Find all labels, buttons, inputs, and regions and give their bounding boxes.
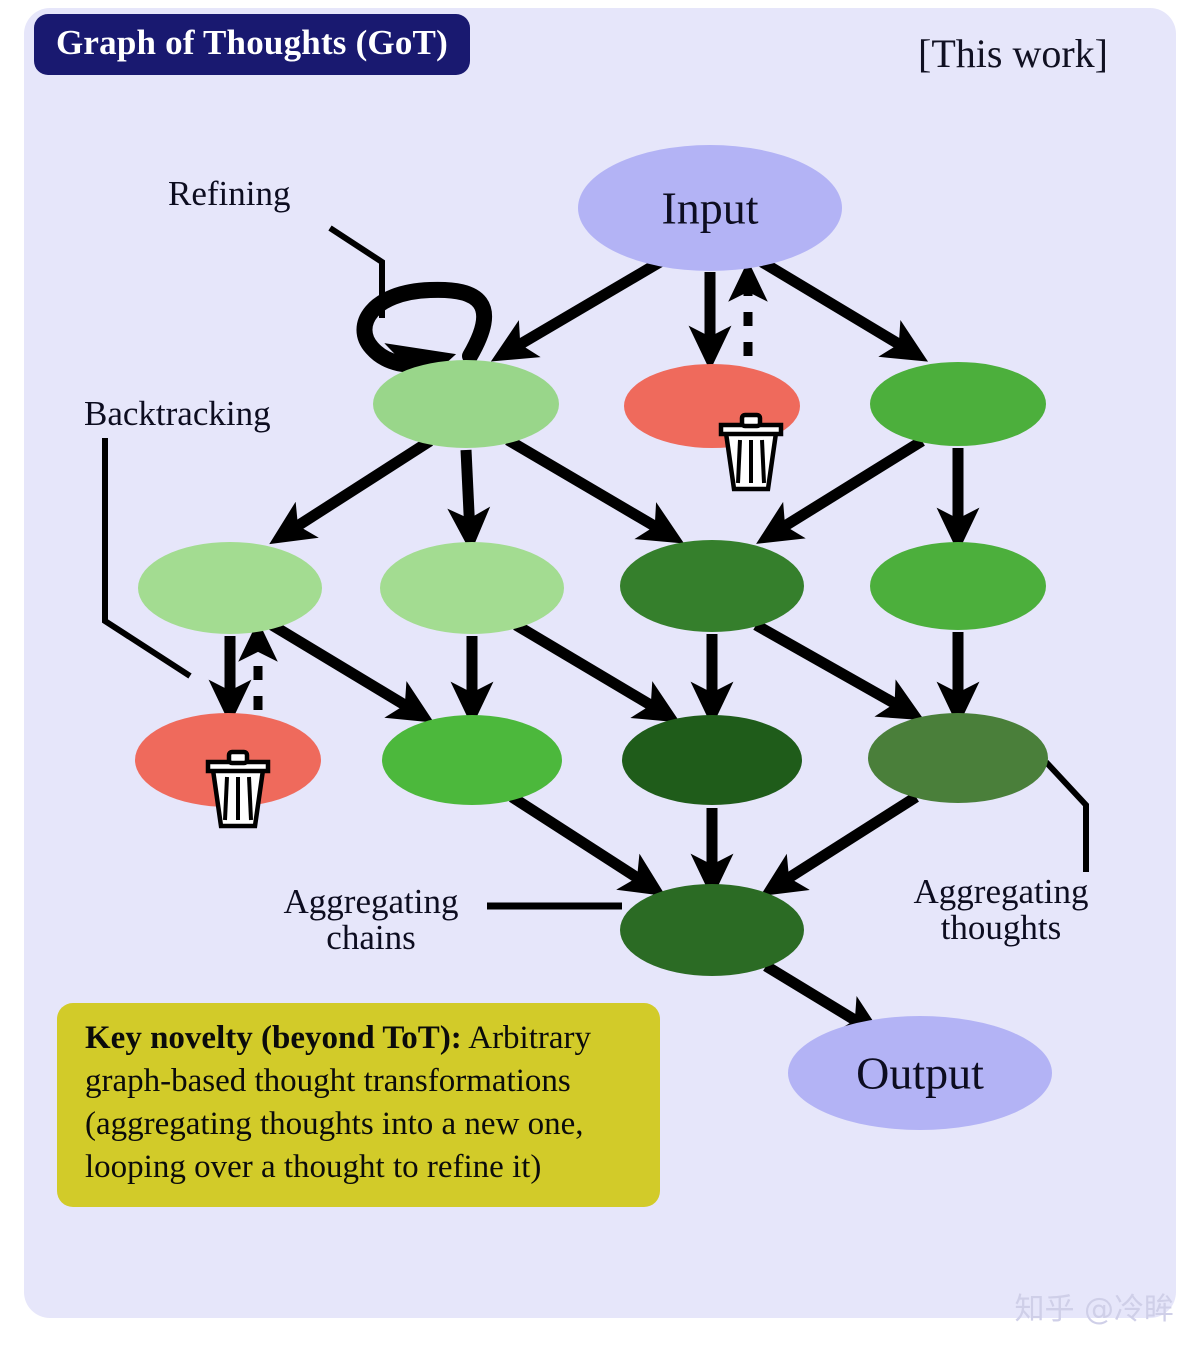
edge-input-r1c3 [762, 262, 912, 352]
key-novelty-box: Key novelty (beyond ToT): Arbitrary grap… [57, 1003, 660, 1207]
label-backtracking: Backtracking [84, 396, 271, 432]
edge-r2c3-r3c4 [756, 625, 908, 711]
edge-r1c3-r2c3 [772, 441, 922, 534]
node-aggregate[interactable] [620, 884, 804, 976]
this-work-note: [This work] [918, 30, 1108, 77]
node-input-label: Input [661, 182, 758, 235]
node-r2c1[interactable] [138, 542, 322, 634]
node-r3c2[interactable] [382, 715, 562, 805]
label-aggregating-thoughts: Aggregating thoughts [890, 874, 1112, 945]
node-r3c3[interactable] [622, 715, 802, 805]
label-aggregating-thoughts-line1: Aggregating [914, 872, 1089, 911]
node-r1c3[interactable] [870, 362, 1046, 446]
edge-r1c1-r2c1 [285, 441, 430, 534]
label-refining: Refining [168, 176, 290, 212]
edge-r3c4-agg [776, 797, 916, 886]
title-badge: Graph of Thoughts (GoT) [34, 14, 470, 75]
node-r2c2[interactable] [380, 542, 564, 634]
edge-r2c1-r3c2 [272, 625, 418, 713]
backtracking-edge-layer [258, 282, 748, 710]
watermark: 知乎 @冷眸 [1014, 1284, 1174, 1328]
label-aggregating-chains-line2: chains [326, 918, 415, 957]
label-aggregating-chains: Aggregating chains [258, 884, 484, 955]
edge-r1c1-r2c3 [508, 440, 668, 534]
label-aggregating-thoughts-line2: thoughts [941, 908, 1062, 947]
trash-icon [721, 415, 781, 489]
edge-agg-output [766, 966, 868, 1028]
key-novelty-heading: Key novelty (beyond ToT): [85, 1020, 462, 1056]
trash-icon [208, 752, 268, 826]
node-r2c3[interactable] [620, 540, 804, 632]
node-r3c4[interactable] [868, 713, 1048, 803]
edge-r1c1-r2c2 [466, 450, 470, 534]
edge-input-r1c1 [507, 262, 660, 352]
leader-agg-thoughts [1046, 762, 1086, 872]
node-r2c4[interactable] [870, 542, 1046, 630]
edge-r2c2-r3c3 [516, 625, 664, 713]
node-output-label: Output [856, 1047, 984, 1100]
node-r1c1[interactable] [373, 360, 559, 448]
label-aggregating-chains-line1: Aggregating [284, 882, 459, 921]
edge-r3c2-agg [512, 797, 650, 886]
